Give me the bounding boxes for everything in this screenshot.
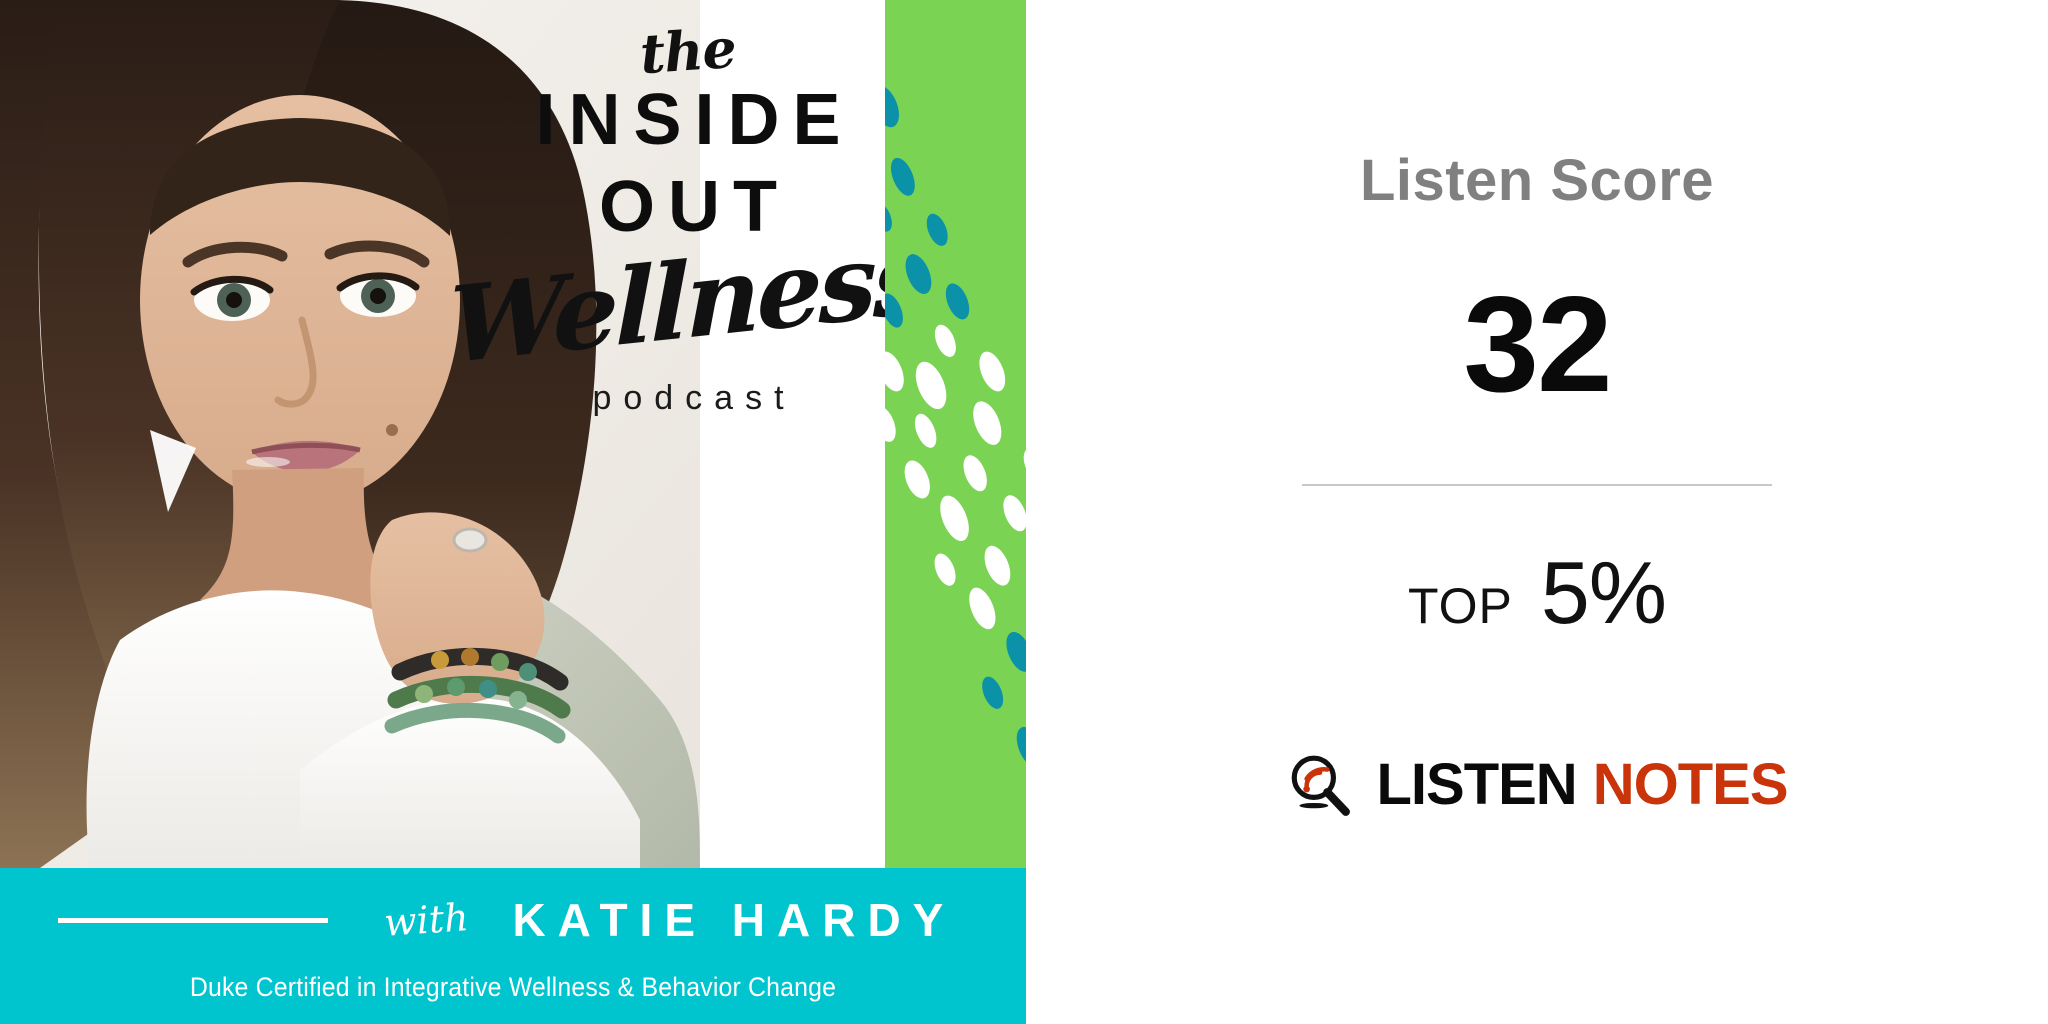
listen-notes-logo[interactable]: LISTENNOTES xyxy=(1286,752,1787,818)
podcast-cover-art[interactable]: the INSIDE OUT Wellness podcast xyxy=(0,0,1026,1024)
green-pattern-strip xyxy=(885,0,1026,868)
cover-host-banner: with KATIE HARDY Duke Certified in Integ… xyxy=(0,868,1026,1024)
listen-score-value: 32 xyxy=(1463,276,1610,412)
listen-score-card: the INSIDE OUT Wellness podcast xyxy=(0,0,2048,1024)
rank-percent-value: 5% xyxy=(1541,542,1666,644)
banner-rule xyxy=(58,918,328,923)
logo-word-listen: LISTEN xyxy=(1376,752,1576,817)
banner-subtitle: Duke Certified in Integrative Wellness &… xyxy=(41,972,985,1003)
banner-host-name: KATIE HARDY xyxy=(512,893,955,947)
score-divider xyxy=(1302,484,1772,486)
rank-row: TOP 5% xyxy=(1408,542,1666,644)
banner-with-label: with xyxy=(383,898,470,942)
logo-wordmark: LISTENNOTES xyxy=(1376,756,1787,814)
magnifier-rss-icon xyxy=(1286,752,1352,818)
host-photo xyxy=(0,0,700,868)
rank-prefix-label: TOP xyxy=(1408,577,1513,635)
logo-word-notes: NOTES xyxy=(1593,752,1788,817)
listen-score-label: Listen Score xyxy=(1360,152,1714,210)
banner-host-row: with KATIE HARDY xyxy=(0,890,1026,950)
listen-score-panel: Listen Score 32 TOP 5% L xyxy=(1026,0,2048,1024)
